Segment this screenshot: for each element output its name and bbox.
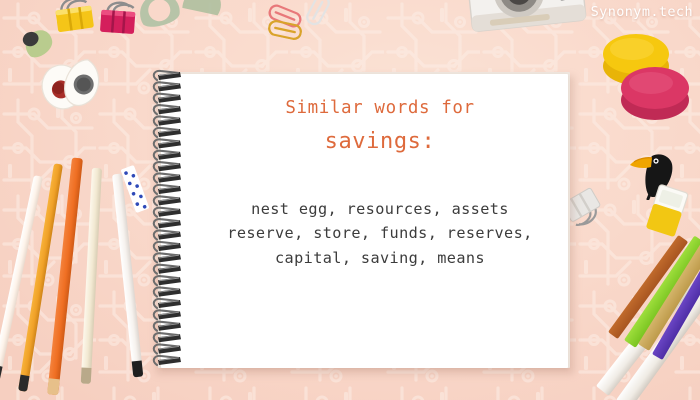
synonym-line: reserve, store, funds, reserves, bbox=[227, 221, 532, 246]
screenshot-stage: Synonym.tech bbox=[0, 0, 700, 400]
page-content: Similar words for savings: nest egg, res… bbox=[206, 74, 554, 368]
synonym-line: capital, saving, means bbox=[227, 246, 532, 271]
brand-watermark: Synonym.tech bbox=[591, 4, 693, 20]
macaron-pink-icon bbox=[618, 62, 692, 122]
page-title-prefix: Similar words for bbox=[285, 98, 474, 120]
synonym-line: nest egg, resources, assets bbox=[227, 197, 532, 222]
page-title-term: savings: bbox=[325, 127, 436, 157]
spiral-binding bbox=[148, 68, 194, 374]
notebook-page: Similar words for savings: nest egg, res… bbox=[161, 74, 568, 368]
synonym-list: nest egg, resources, assets reserve, sto… bbox=[227, 197, 532, 271]
notebook-card: Similar words for savings: nest egg, res… bbox=[150, 72, 574, 372]
